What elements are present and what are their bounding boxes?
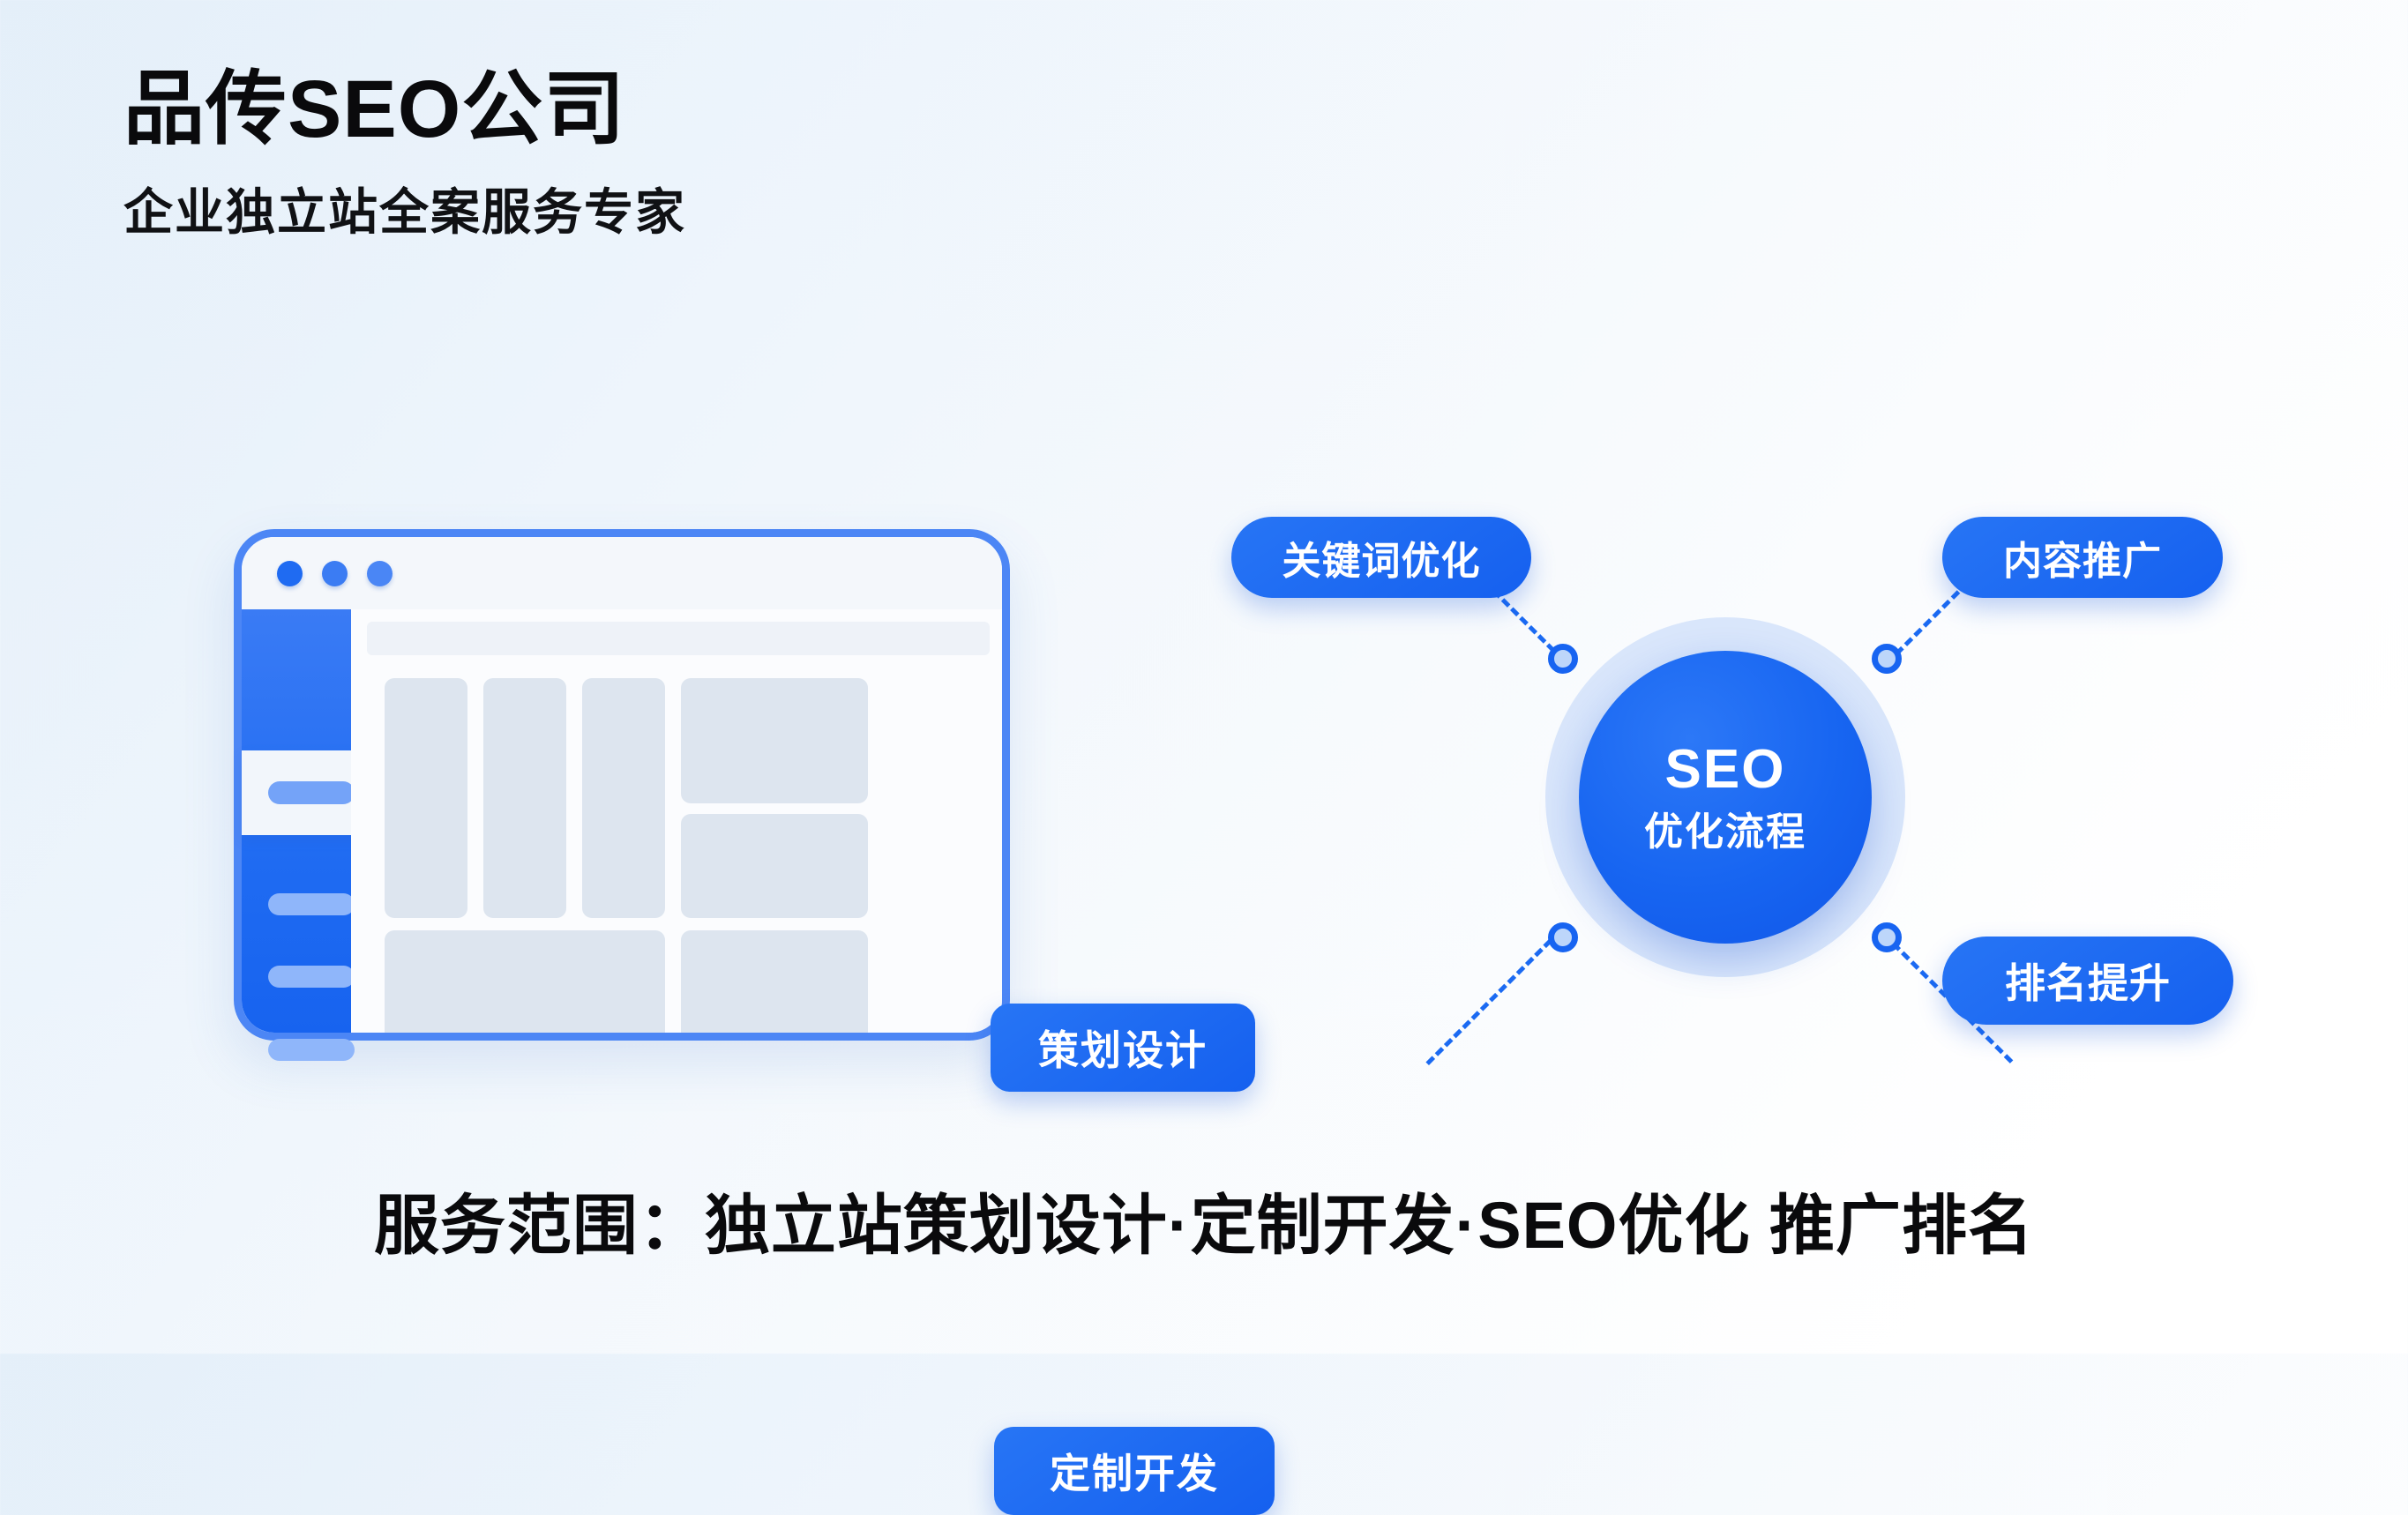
page-header: 品传SEO公司 企业独立站全案服务专家 bbox=[123, 69, 686, 244]
seo-label-ranking-boost: 排名提升 bbox=[1942, 937, 2233, 1025]
seo-core-primary-label: SEO bbox=[1665, 743, 1786, 797]
connector-node-bottom-left bbox=[1548, 922, 1578, 952]
seo-process-diagram: SEO 优化流程 关键词优化 内容推广 排名提升 bbox=[1200, 485, 2285, 1049]
seo-label-content-promotion: 内容推广 bbox=[1942, 517, 2223, 598]
mockup-content-block bbox=[582, 678, 665, 918]
sidebar-active-item-bar bbox=[268, 781, 355, 804]
window-maximize-dot-icon bbox=[367, 561, 393, 586]
window-close-dot-icon bbox=[277, 561, 303, 586]
mockup-content-block bbox=[681, 814, 868, 918]
sidebar-item-1 bbox=[268, 893, 355, 915]
seo-core-circle: SEO 优化流程 bbox=[1579, 651, 1872, 944]
sidebar-item-2 bbox=[268, 966, 355, 988]
mockup-sidebar bbox=[242, 609, 351, 1033]
connector-node-ranking bbox=[1872, 922, 1902, 952]
footer-service-scope-caption: 服务范围：独立站策划设计·定制开发·SEO优化 推广排名 bbox=[0, 1173, 2408, 1267]
page-title: 品传SEO公司 bbox=[123, 69, 686, 150]
page-subtitle: 企业独立站全案服务专家 bbox=[123, 173, 686, 244]
connector-node-content bbox=[1872, 644, 1902, 674]
website-mockup-illustration: 策划设计 定制开发 bbox=[234, 529, 1054, 1058]
callout-badge-development: 定制开发 bbox=[994, 1427, 1275, 1515]
mockup-content-block bbox=[483, 678, 566, 918]
mockup-content-block bbox=[385, 678, 467, 918]
sidebar-item-3 bbox=[268, 1039, 355, 1061]
seo-core-secondary-label: 优化流程 bbox=[1644, 813, 1806, 852]
mockup-content-block bbox=[681, 930, 868, 1033]
connector-node-keyword bbox=[1548, 644, 1578, 674]
mockup-content-header-bar bbox=[367, 622, 990, 655]
window-minimize-dot-icon bbox=[322, 561, 348, 586]
seo-label-keyword-optimization: 关键词优化 bbox=[1231, 517, 1531, 598]
connector-line-bottom-left bbox=[1425, 938, 1552, 1065]
mockup-content-block bbox=[385, 930, 665, 1033]
browser-titlebar bbox=[242, 537, 1002, 609]
mockup-content-block bbox=[681, 678, 868, 803]
mockup-content-area bbox=[351, 609, 1002, 1033]
browser-window-frame bbox=[234, 529, 1010, 1041]
